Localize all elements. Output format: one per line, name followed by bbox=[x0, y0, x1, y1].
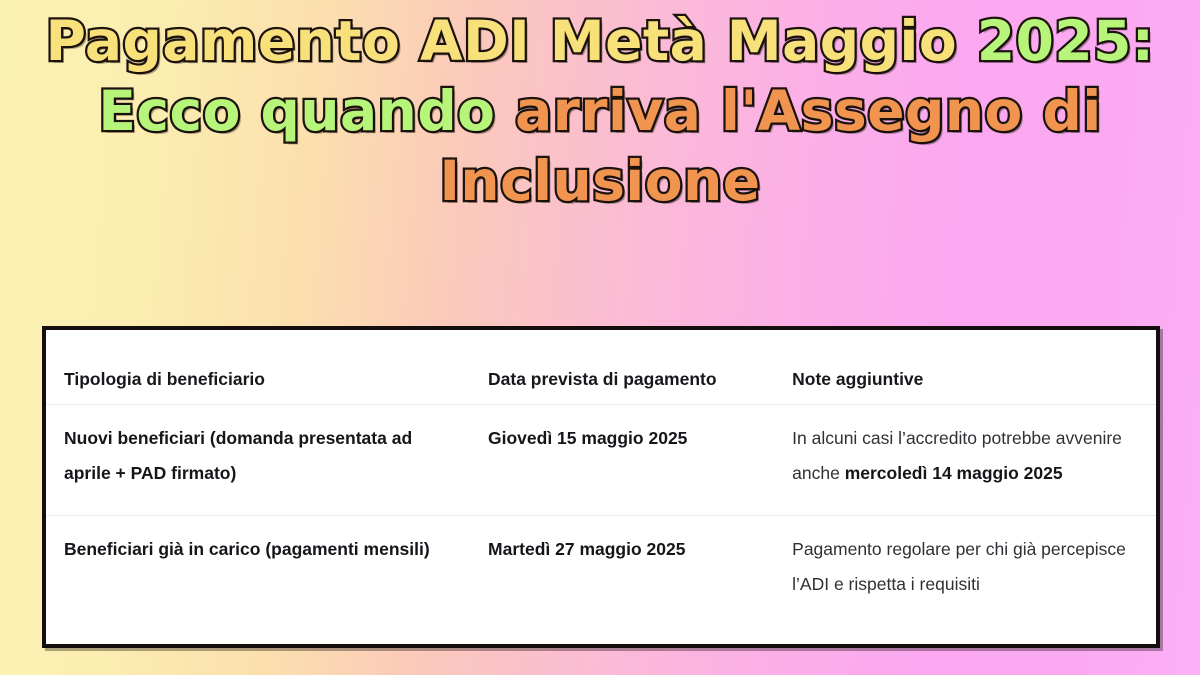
table-header-row: Tipologia di beneficiario Data prevista … bbox=[46, 330, 1156, 405]
cell-beneficiary-type: Nuovi beneficiari (domanda presentata ad… bbox=[46, 405, 470, 516]
title-line-3: Inclusione bbox=[14, 146, 1186, 216]
title-line-3-part-1: Inclusione bbox=[439, 149, 760, 213]
page-title: Pagamento ADI Metà Maggio 2025: Ecco qua… bbox=[0, 6, 1200, 216]
column-header-additional-notes: Note aggiuntive bbox=[774, 330, 1156, 405]
table-header: Tipologia di beneficiario Data prevista … bbox=[46, 330, 1156, 405]
title-line-2: Ecco quando arriva l'Assegno di bbox=[14, 76, 1186, 146]
table-row: Nuovi beneficiari (domanda presentata ad… bbox=[46, 405, 1156, 516]
title-line-1: Pagamento ADI Metà Maggio 2025: bbox=[14, 6, 1186, 76]
cell-payment-date: Martedì 27 maggio 2025 bbox=[470, 516, 774, 627]
note-text-plain: Pagamento regolare per chi già percepisc… bbox=[792, 539, 1126, 594]
cell-beneficiary-type: Beneficiari già in carico (pagamenti men… bbox=[46, 516, 470, 627]
payment-schedule-table: Tipologia di beneficiario Data prevista … bbox=[46, 330, 1156, 626]
column-header-expected-payment-date: Data prevista di pagamento bbox=[470, 330, 774, 405]
note-text-highlight: mercoledì 14 maggio 2025 bbox=[845, 463, 1063, 483]
title-line-2-part-2: arriva l'Assegno di bbox=[515, 79, 1102, 143]
table-body: Nuovi beneficiari (domanda presentata ad… bbox=[46, 405, 1156, 627]
column-header-beneficiary-type: Tipologia di beneficiario bbox=[46, 330, 470, 405]
title-line-2-part-1: Ecco quando bbox=[98, 79, 495, 143]
table-row: Beneficiari già in carico (pagamenti men… bbox=[46, 516, 1156, 627]
payment-schedule-card: Tipologia di beneficiario Data prevista … bbox=[42, 326, 1160, 648]
title-line-1-part-1: Pagamento ADI Metà Maggio bbox=[46, 9, 958, 73]
title-line-1-part-2: 2025: bbox=[977, 9, 1155, 73]
cell-payment-date: Giovedì 15 maggio 2025 bbox=[470, 405, 774, 516]
infographic-canvas: Pagamento ADI Metà Maggio 2025: Ecco qua… bbox=[0, 0, 1200, 675]
cell-additional-note: In alcuni casi l’accredito potrebbe avve… bbox=[774, 405, 1156, 516]
cell-additional-note: Pagamento regolare per chi già percepisc… bbox=[774, 516, 1156, 627]
